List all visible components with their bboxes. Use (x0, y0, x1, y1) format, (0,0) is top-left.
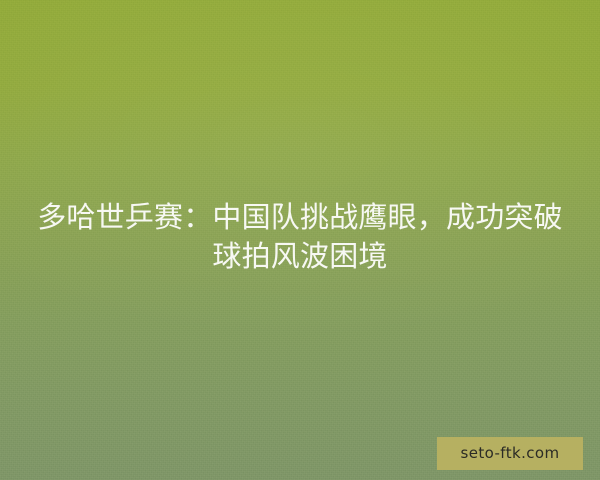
poster-headline: 多哈世乒赛：中国队挑战鹰眼，成功突破球拍风波困境 (28, 199, 572, 277)
watermark-badge: seto-ftk.com (437, 437, 583, 470)
poster-canvas: 多哈世乒赛：中国队挑战鹰眼，成功突破球拍风波困境 seto-ftk.com (0, 0, 600, 480)
watermark-text: seto-ftk.com (461, 446, 560, 461)
